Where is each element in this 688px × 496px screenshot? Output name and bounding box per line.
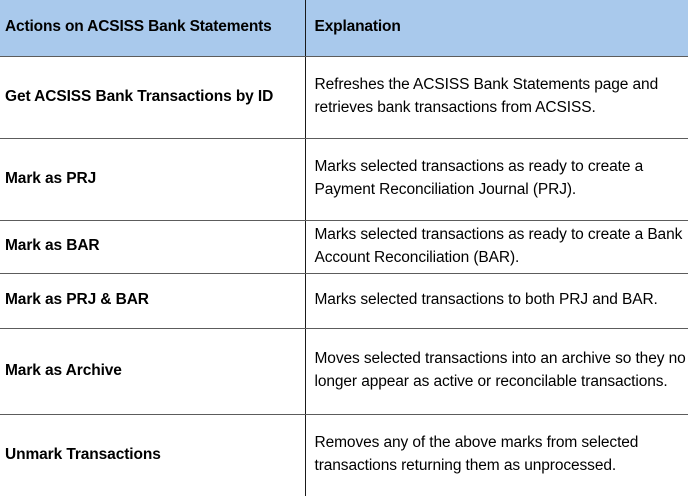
- action-name-cell: Mark as PRJ & BAR: [0, 273, 305, 328]
- action-name-cell: Mark as PRJ: [0, 138, 305, 220]
- action-explanation-cell: Marks selected transactions as ready to …: [305, 220, 688, 273]
- action-explanation-cell: Refreshes the ACSISS Bank Statements pag…: [305, 56, 688, 138]
- action-name-cell: Mark as Archive: [0, 328, 305, 414]
- table-header-row: Actions on ACSISS Bank Statements Explan…: [0, 0, 688, 56]
- table-row: Mark as BAR Marks selected transactions …: [0, 220, 688, 273]
- table-row: Mark as PRJ & BAR Marks selected transac…: [0, 273, 688, 328]
- action-name-cell: Mark as BAR: [0, 220, 305, 273]
- action-explanation-cell: Marks selected transactions as ready to …: [305, 138, 688, 220]
- column-header-explanation: Explanation: [305, 0, 688, 56]
- actions-table-container: Actions on ACSISS Bank Statements Explan…: [0, 0, 688, 496]
- column-header-actions: Actions on ACSISS Bank Statements: [0, 0, 305, 56]
- action-name-cell: Unmark Transactions: [0, 414, 305, 496]
- action-name-cell: Get ACSISS Bank Transactions by ID: [0, 56, 305, 138]
- table-header: Actions on ACSISS Bank Statements Explan…: [0, 0, 688, 56]
- action-explanation-cell: Marks selected transactions to both PRJ …: [305, 273, 688, 328]
- table-body: Get ACSISS Bank Transactions by ID Refre…: [0, 56, 688, 496]
- actions-explanation-table: Actions on ACSISS Bank Statements Explan…: [0, 0, 688, 496]
- action-explanation-cell: Moves selected transactions into an arch…: [305, 328, 688, 414]
- action-explanation-cell: Removes any of the above marks from sele…: [305, 414, 688, 496]
- table-row: Get ACSISS Bank Transactions by ID Refre…: [0, 56, 688, 138]
- table-row: Mark as PRJ Marks selected transactions …: [0, 138, 688, 220]
- table-row: Mark as Archive Moves selected transacti…: [0, 328, 688, 414]
- table-row: Unmark Transactions Removes any of the a…: [0, 414, 688, 496]
